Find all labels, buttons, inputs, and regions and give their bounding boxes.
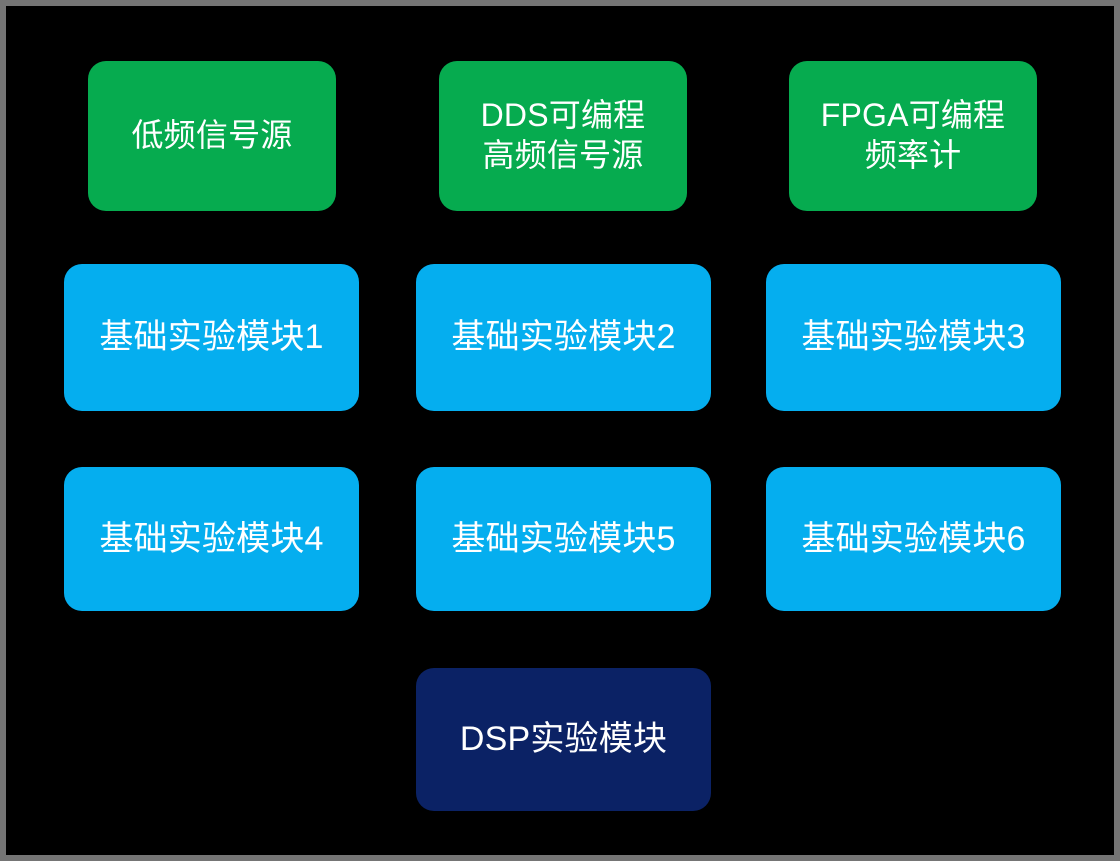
node-label: 基础实验模块6 <box>793 518 1033 560</box>
node-label: 基础实验模块4 <box>91 518 331 560</box>
node-dds-programmable-high-freq-signal-source[interactable]: DDS可编程 高频信号源 <box>439 61 687 211</box>
node-basic-experiment-module-3[interactable]: 基础实验模块3 <box>766 264 1061 411</box>
node-basic-experiment-module-2[interactable]: 基础实验模块2 <box>416 264 711 411</box>
node-label: 基础实验模块5 <box>443 518 683 560</box>
node-low-freq-signal-source[interactable]: 低频信号源 <box>88 61 336 211</box>
node-basic-experiment-module-5[interactable]: 基础实验模块5 <box>416 467 711 611</box>
node-label: 基础实验模块3 <box>793 316 1033 358</box>
node-basic-experiment-module-4[interactable]: 基础实验模块4 <box>64 467 359 611</box>
diagram-canvas: 低频信号源 DDS可编程 高频信号源 FPGA可编程 频率计 基础实验模块1 基… <box>0 0 1120 861</box>
node-label: 基础实验模块2 <box>443 316 683 358</box>
node-label: 低频信号源 <box>123 116 300 156</box>
node-label: DSP实验模块 <box>452 718 675 760</box>
node-label: DDS可编程 高频信号源 <box>473 96 654 175</box>
node-basic-experiment-module-6[interactable]: 基础实验模块6 <box>766 467 1061 611</box>
node-basic-experiment-module-1[interactable]: 基础实验模块1 <box>64 264 359 411</box>
node-dsp-experiment-module[interactable]: DSP实验模块 <box>416 668 711 811</box>
node-fpga-programmable-frequency-counter[interactable]: FPGA可编程 频率计 <box>789 61 1037 211</box>
node-label: FPGA可编程 频率计 <box>813 96 1014 175</box>
node-label: 基础实验模块1 <box>91 316 331 358</box>
